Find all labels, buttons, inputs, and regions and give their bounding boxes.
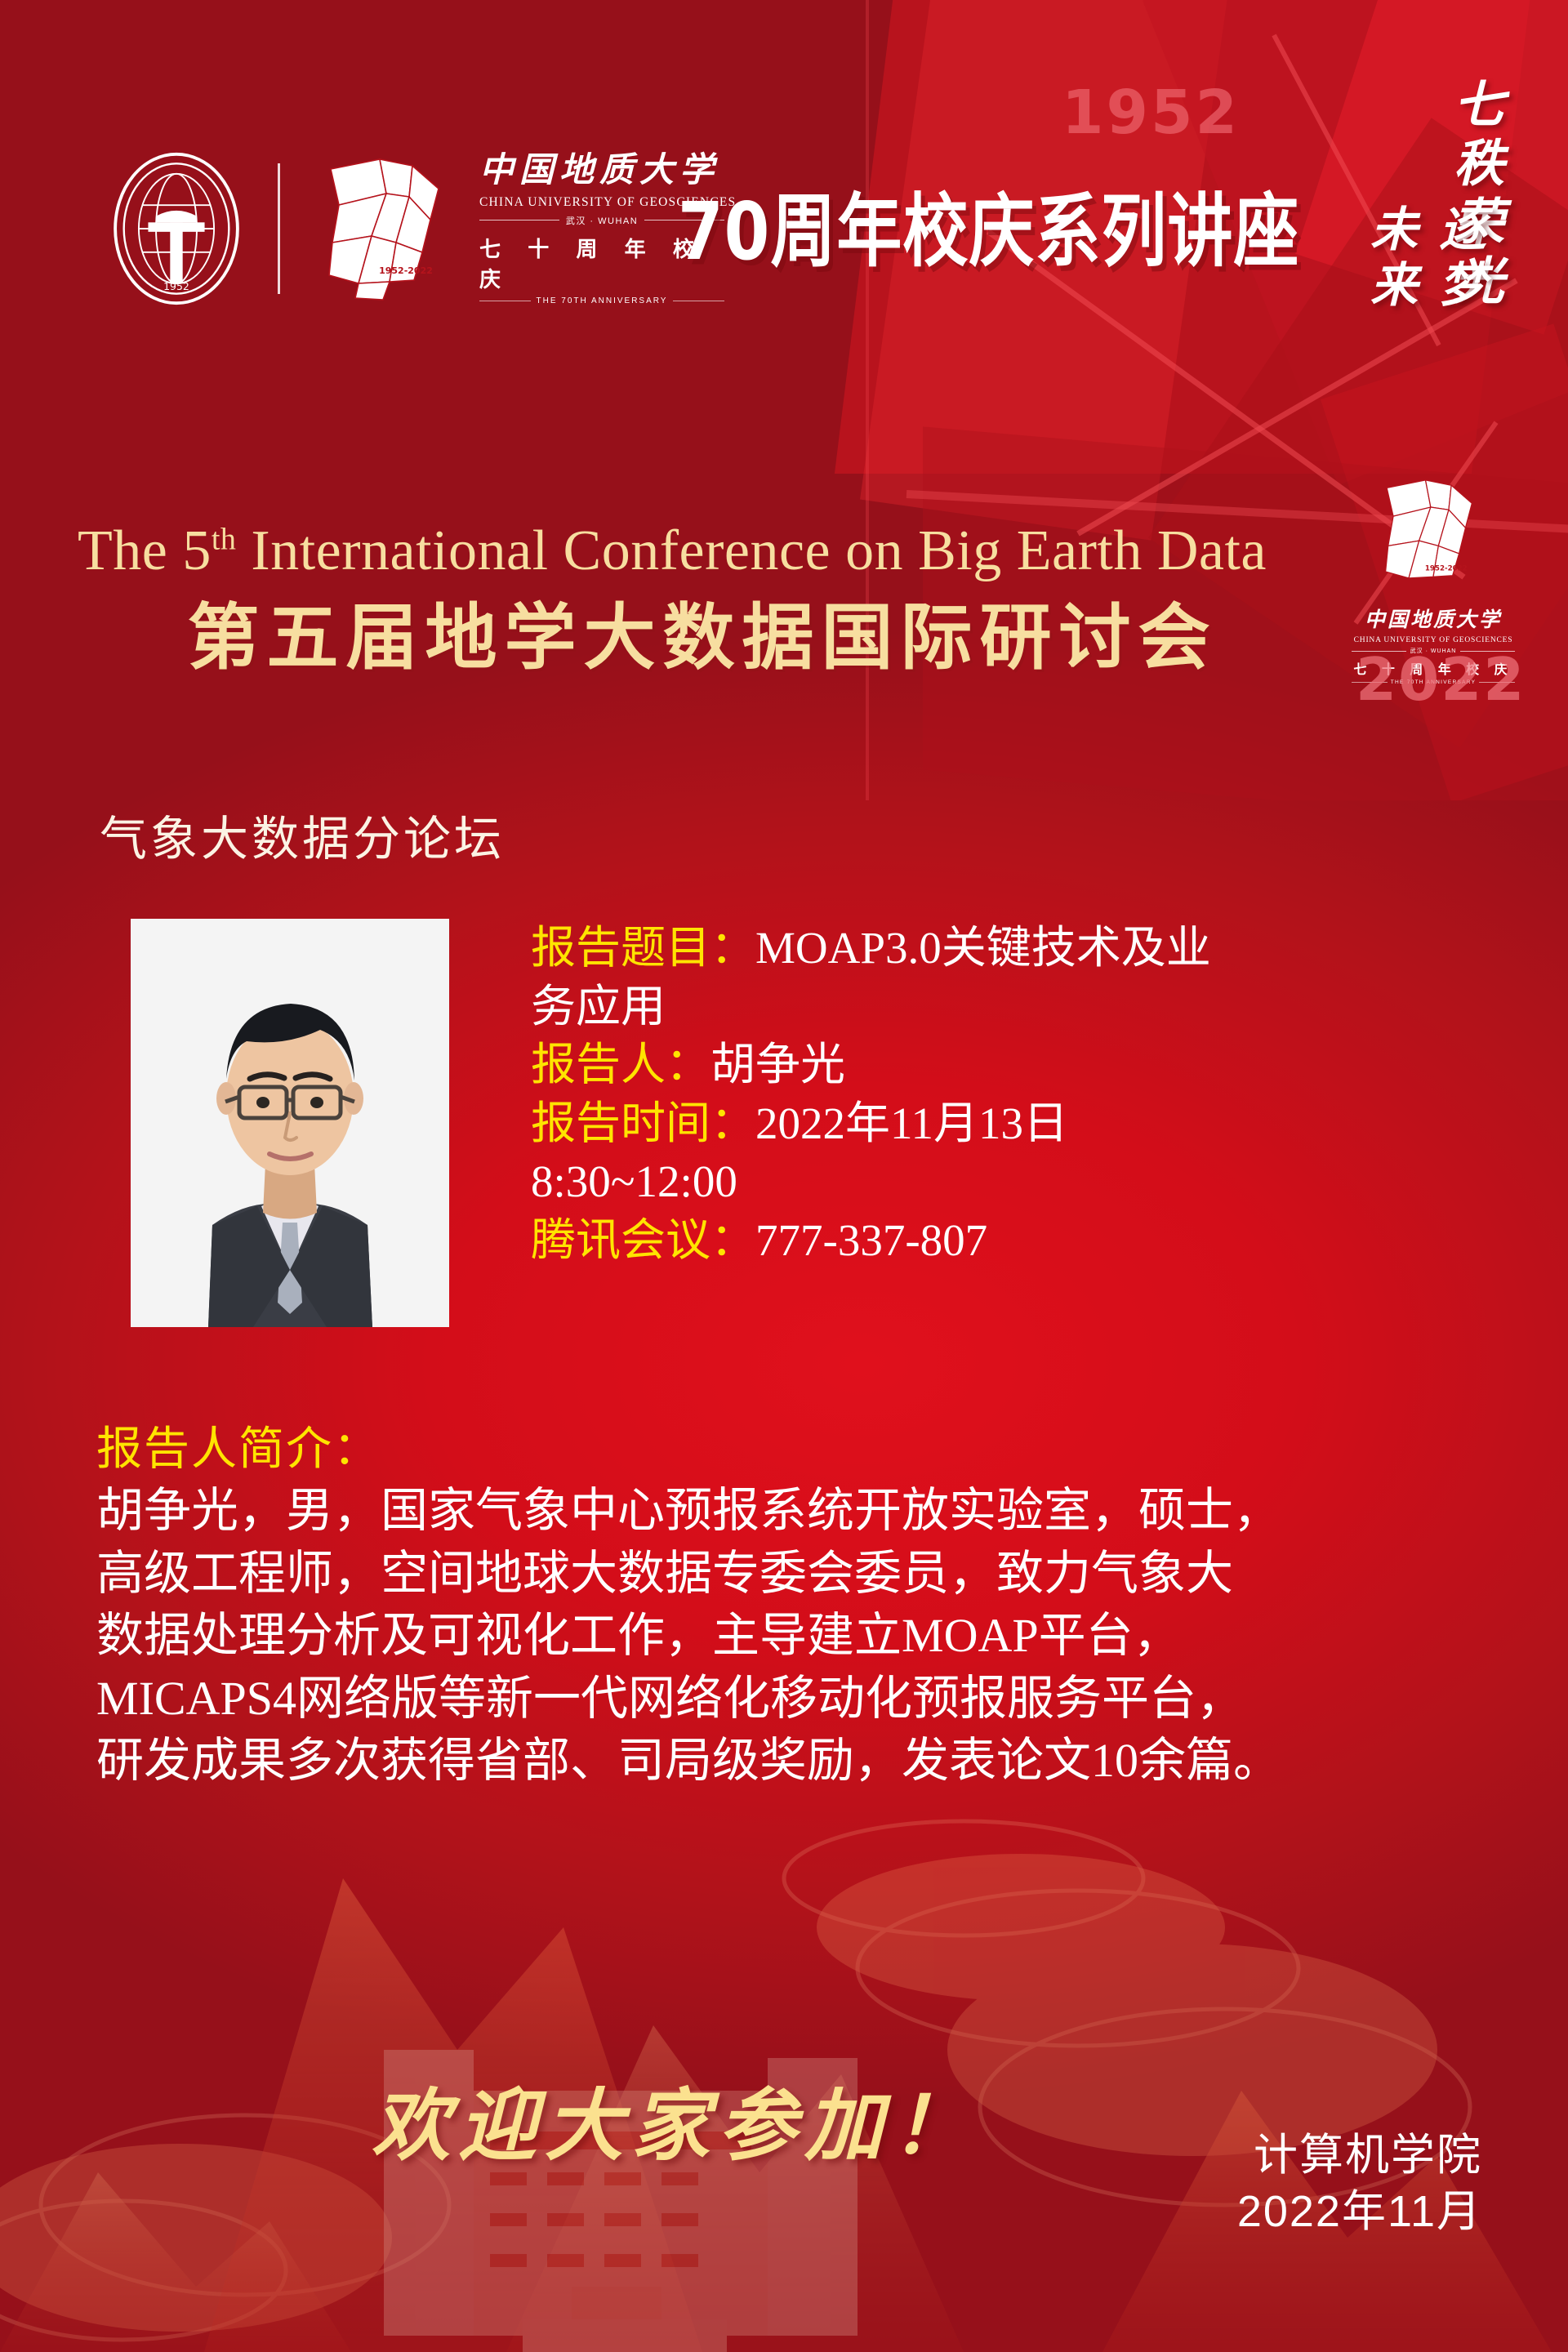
wordmark-anniversary-rule: THE 70TH ANNIVERSARY: [479, 296, 724, 305]
footer-block: 计算机学院 2022年11月: [1237, 2127, 1482, 2240]
label-meeting: 腾讯会议：: [531, 1215, 755, 1265]
conference-title-en-post: International Conference on Big Earth Da…: [236, 519, 1267, 582]
mini-wordmark-en: CHINA UNIVERSITY OF GEOSCIENCES: [1352, 636, 1515, 644]
value-date: 2022年11月13日: [755, 1098, 1068, 1148]
speaker-info: 报告题目：MOAP3.0关键技术及业 务应用 报告人：胡争光 报告时间：2022…: [531, 919, 1511, 1269]
seal-year: 1952: [163, 280, 189, 292]
logo-row: 1952 1952-2022: [98, 151, 724, 306]
footer-date: 2022年11月: [1237, 2184, 1482, 2240]
speaker-block: 报告题目：MOAP3.0关键技术及业 务应用 报告人：胡争光 报告时间：2022…: [131, 919, 1511, 1327]
current-year: 2022: [1356, 645, 1526, 714]
mark-years: 1952-2022: [379, 265, 433, 276]
welcome-calligraphy: 欢迎大家参加！: [372, 2062, 978, 2176]
speaker-time-range: 8:30~12:00: [531, 1152, 1511, 1211]
forum-name: 气象大数据分论坛: [100, 800, 505, 869]
value-name: 胡争光: [710, 1040, 845, 1089]
conference-title-en-pre: The 5: [78, 519, 212, 582]
mini-wordmark-cn: 中国地质大学: [1352, 604, 1515, 633]
logo-divider: [278, 163, 280, 294]
conference-title-en-sup: th: [212, 523, 237, 557]
footer-org: 计算机学院: [1237, 2127, 1482, 2184]
speaker-name-line: 报告人：胡争光: [531, 1036, 1511, 1094]
seventy-anniversary-mark-icon: 1952-2022: [308, 151, 471, 306]
wordmark-anniversary-en: THE 70TH ANNIVERSARY: [531, 296, 674, 305]
founding-year: 1952: [1062, 78, 1240, 148]
value-topic: MOAP3.0关键技术及业: [755, 923, 1211, 973]
mini-mark-years: 1952-2022: [1425, 564, 1468, 572]
speaker-topic-cont: 务应用: [531, 978, 1511, 1036]
speaker-time-line: 报告时间：2022年11月13日: [531, 1094, 1511, 1153]
banner-title: 70周年校庆系列讲座: [678, 167, 1299, 283]
conference-title-en: The 5th International Conference on Big …: [78, 523, 1327, 580]
speaker-topic-line: 报告题目：MOAP3.0关键技术及业: [531, 919, 1511, 978]
speaker-portrait: [131, 919, 449, 1327]
university-seal-icon: 1952: [98, 150, 255, 307]
speaker-portrait-svg: [131, 919, 449, 1327]
label-time: 报告时间：: [531, 1098, 755, 1148]
wordmark-city: 武汉 · WUHAN: [559, 214, 644, 227]
conference-title-cn: 第五届地学大数据国际研讨会: [78, 599, 1327, 675]
label-topic: 报告题目：: [531, 923, 755, 973]
mini-origami-mark-icon: 1952-2022: [1364, 474, 1503, 596]
lecture-poster: 1952 1952: [0, 0, 1568, 2352]
label-name: 报告人：: [531, 1040, 710, 1089]
speaker-bio-block: 报告人简介： 胡争光，男，国家气象中心预报系统开放实验室，硕士， 高级工程师，空…: [96, 1421, 1517, 1793]
bio-title: 报告人简介：: [96, 1421, 1517, 1478]
poster-header: 1952 1952: [0, 0, 1568, 343]
speaker-meeting-line: 腾讯会议：777-337-807: [531, 1211, 1511, 1270]
value-meeting: 777-337-807: [755, 1215, 987, 1265]
calligraphy-zhumeng-weilai: 逐梦未来: [1356, 204, 1493, 343]
bio-body: 胡争光，男，国家气象中心预报系统开放实验室，硕士， 高级工程师，空间地球大数据专…: [96, 1480, 1517, 1793]
conference-title-block: The 5th International Conference on Big …: [78, 523, 1327, 675]
